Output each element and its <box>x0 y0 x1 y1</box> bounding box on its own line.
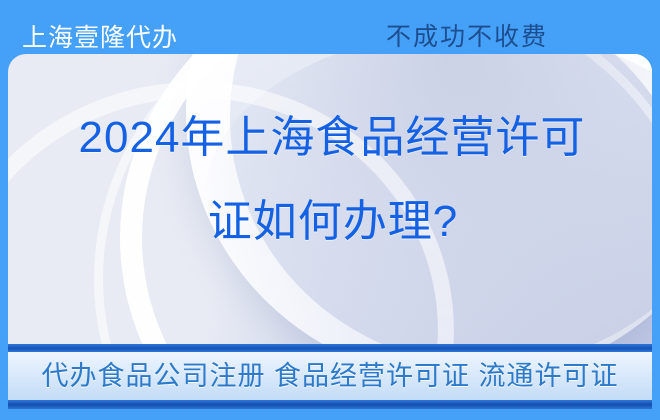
tagline: 不成功不收费 <box>386 20 548 54</box>
promo-banner: 上海壹隆代办 不成功不收费 2024年上海食品经营许可 证如何办理? 代办食品公… <box>0 0 660 420</box>
footer-divider <box>8 344 652 352</box>
headline: 2024年上海食品经营许可 证如何办理? <box>0 96 660 264</box>
headline-line-1: 2024年上海食品经营许可 <box>0 96 660 180</box>
footer-keyword-bar: 代办食品公司注册 食品经营许可证 流通许可证 <box>8 352 652 400</box>
footer-keywords: 代办食品公司注册 食品经营许可证 流通许可证 <box>41 359 618 393</box>
brand-name: 上海壹隆代办 <box>22 22 178 54</box>
footer-base-rule <box>8 400 652 409</box>
headline-line-2: 证如何办理? <box>0 180 660 264</box>
